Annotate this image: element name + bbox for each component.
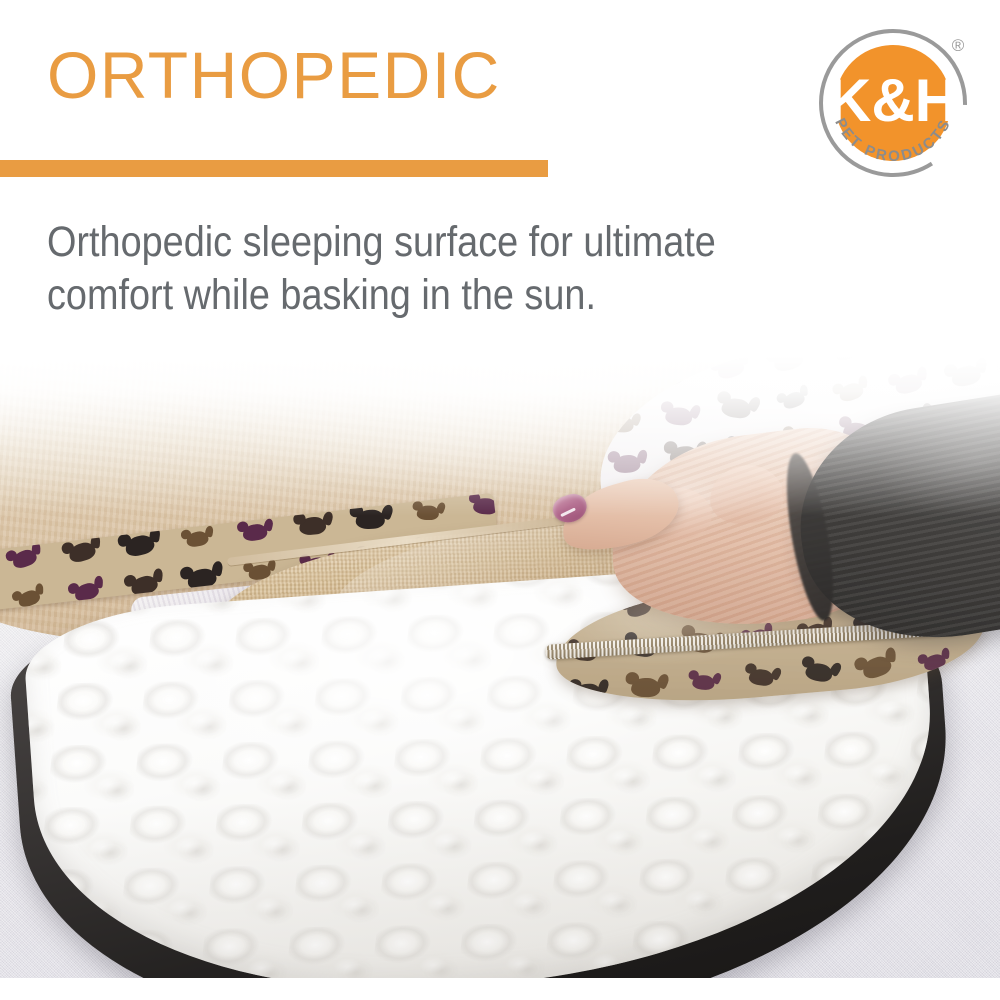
cat-silhouette-icon [10, 547, 38, 571]
subtitle-text: Orthopedic sleeping surface for ultimate… [47, 216, 804, 322]
cat-silhouette-icon [692, 674, 715, 690]
brand-logo: K&H PET PRODUCTS ® [808, 18, 978, 188]
cat-silhouette-icon [922, 652, 947, 673]
cat-silhouette-icon [631, 678, 660, 698]
registered-trademark-icon: ® [952, 36, 965, 55]
bottom-white-margin [0, 978, 1000, 1000]
product-feature-image: ORTHOPEDIC Orthopedic sleeping surface f… [0, 0, 1000, 1000]
cat-silhouette-icon [67, 540, 98, 565]
cat-silhouette-icon [298, 516, 326, 536]
cat-silhouette-icon [574, 683, 601, 701]
cat-silhouette-icon [860, 653, 894, 681]
cat-silhouette-icon [804, 661, 833, 683]
cat-silhouette-icon [242, 523, 269, 542]
photo-top-highlight [0, 356, 1000, 516]
cat-silhouette-icon [748, 668, 774, 687]
cat-silhouette-icon [185, 530, 210, 549]
cat-silhouette-icon [123, 533, 156, 559]
title-underline-rule [0, 160, 548, 177]
cat-silhouette-icon [568, 602, 594, 624]
product-photo [0, 356, 1000, 978]
header-band: ORTHOPEDIC Orthopedic sleeping surface f… [0, 0, 1000, 356]
page-title: ORTHOPEDIC [47, 39, 501, 111]
